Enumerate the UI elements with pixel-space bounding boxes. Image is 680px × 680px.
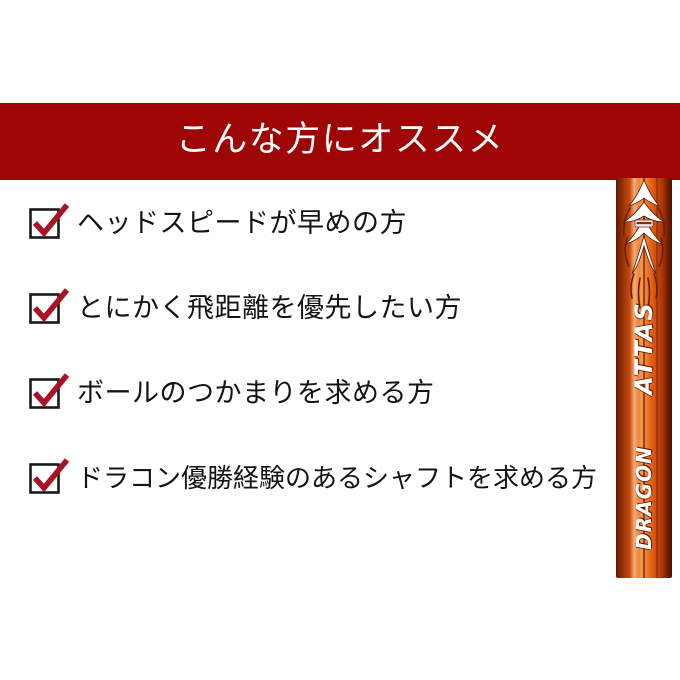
checked-checkbox-icon [30, 294, 60, 324]
promo-graphic: こんな方にオススメ ヘッドスピードが早めの方 とにかく飛距離を優先したい方 [0, 0, 680, 680]
checked-checkbox-icon [30, 464, 60, 494]
list-item: ドラコン優勝経験のあるシャフトを求める方 [0, 451, 680, 507]
list-item-label: ボールのつかまりを求める方 [77, 379, 435, 409]
checked-checkbox-icon [30, 209, 60, 239]
tribal-arrow-graphic [616, 178, 672, 328]
page-title: こんな方にオススメ [176, 123, 505, 161]
golf-shaft-image: ATTAS DRAGON [616, 178, 672, 578]
list-item: ヘッドスピードが早めの方 [0, 196, 680, 252]
list-item: とにかく飛距離を優先したい方 [0, 281, 680, 337]
list-item: ボールのつかまりを求める方 [0, 366, 680, 422]
header-banner: こんな方にオススメ [0, 103, 680, 180]
checked-checkbox-icon [30, 379, 60, 409]
list-item-label: とにかく飛距離を優先したい方 [77, 294, 462, 324]
list-item-label: ヘッドスピードが早めの方 [77, 209, 407, 239]
recommendation-checklist: ヘッドスピードが早めの方 とにかく飛距離を優先したい方 ボールのつかまりを求める… [0, 196, 680, 536]
list-item-label: ドラコン優勝経験のあるシャフトを求める方 [77, 465, 597, 494]
